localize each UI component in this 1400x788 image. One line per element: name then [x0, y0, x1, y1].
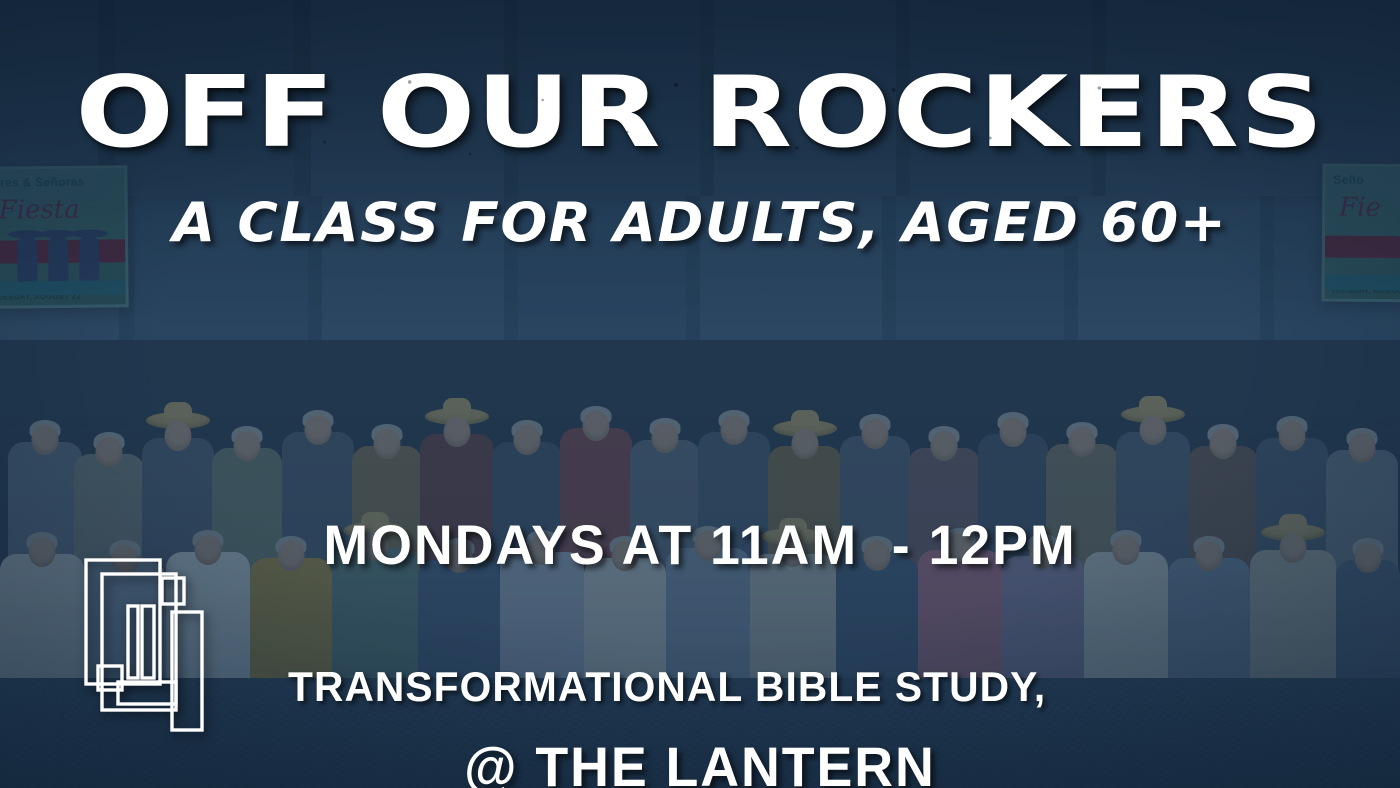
poster-headline: OFF OUR ROCKERS	[0, 64, 1400, 162]
poster-content: OFF OUR ROCKERS A CLASS FOR ADULTS, AGED…	[0, 0, 1400, 788]
details-line-1: TRANSFORMATIONAL BIBLE STUDY,	[288, 662, 1068, 713]
church-monogram-logo	[84, 556, 214, 734]
headline-block: OFF OUR ROCKERS	[0, 0, 1400, 190]
poster-subheadline: A CLASS FOR ADULTS, AGED 60+	[0, 196, 1400, 250]
promotional-poster: ores & Señoras Fiesta TUESDAY, AUGUST 22…	[0, 0, 1400, 788]
details-block: TRANSFORMATIONAL BIBLE STUDY, SHARING IN…	[288, 560, 1068, 788]
